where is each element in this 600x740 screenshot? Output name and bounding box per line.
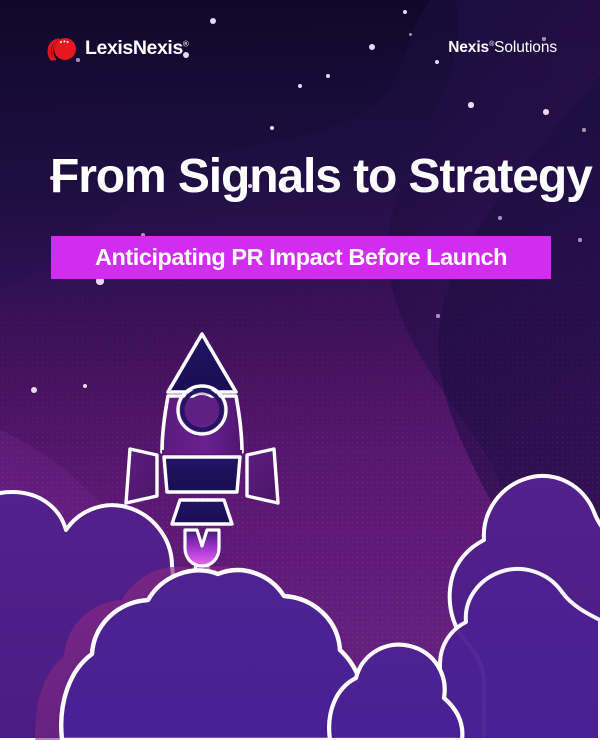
trademark-symbol: ® <box>183 39 189 48</box>
left-fin <box>126 449 157 503</box>
report-cover: LexisNexis® Nexis®Solutions From Signals… <box>0 0 600 740</box>
lexisnexis-logo: LexisNexis® <box>46 33 188 63</box>
lexisnexis-mark-icon <box>46 33 77 63</box>
page-title: From Signals to Strategy <box>50 148 570 206</box>
lexisnexis-wordmark: LexisNexis® <box>85 37 188 60</box>
rocket-body-lower <box>162 450 242 454</box>
nose-cone <box>168 334 236 392</box>
page-subtitle: Anticipating PR Impact Before Launch <box>95 244 507 271</box>
right-fin <box>247 449 278 503</box>
solutions-wordmark: Solutions <box>494 39 557 56</box>
nexis-solutions-logo: Nexis®Solutions <box>448 39 557 57</box>
nexis-wordmark: Nexis <box>448 39 489 56</box>
rocket-launch-illustration <box>0 0 600 740</box>
base-band <box>164 457 240 492</box>
nozzle <box>172 500 232 524</box>
flame <box>185 530 219 566</box>
subtitle-banner: Anticipating PR Impact Before Launch <box>51 236 551 279</box>
